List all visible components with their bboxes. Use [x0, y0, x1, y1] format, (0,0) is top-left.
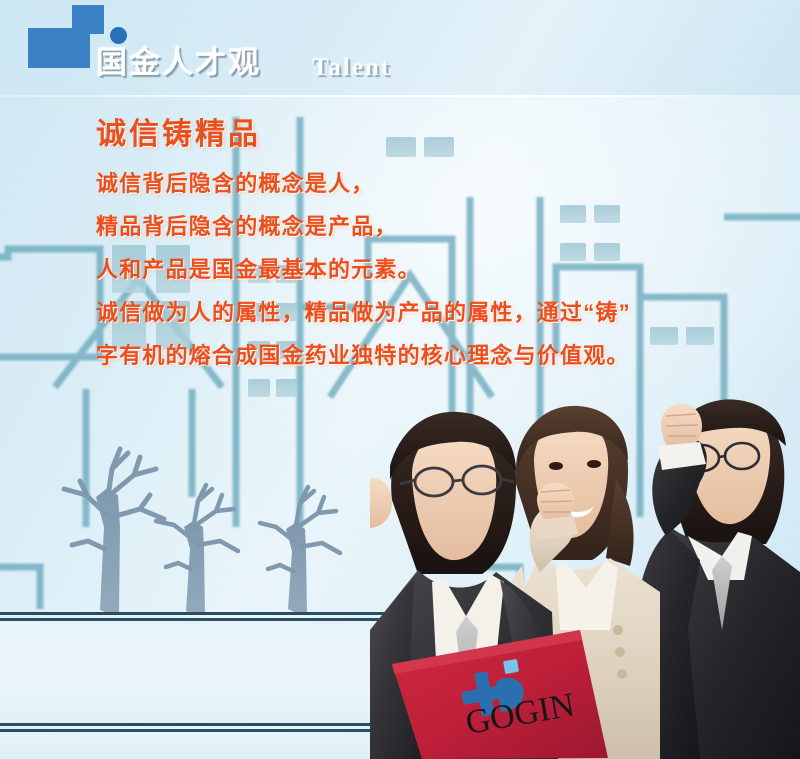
tree-mid — [156, 485, 238, 615]
page-title: 国金人才观 — [96, 47, 261, 78]
poster-canvas: GOGIN 国金人才观 Talent 诚信铸精品 诚信背后隐含的概念是人， 精品… — [0, 0, 800, 759]
content-heading: 诚信铸精品 — [96, 116, 756, 154]
content-line-1: 诚信背后隐含的概念是人， — [96, 173, 756, 195]
person-right — [636, 399, 800, 759]
content-line-3: 人和产品是国金最基本的元素。 — [96, 259, 756, 281]
content-line-4: 诚信做为人的属性，精品做为产品的属性，通过“铸” — [96, 302, 756, 324]
logo-square-large-icon — [28, 28, 90, 68]
people-photo: GOGIN — [370, 330, 800, 759]
people-svg: GOGIN — [370, 330, 800, 759]
content-line-2: 精品背后隐含的概念是产品， — [96, 216, 756, 238]
content-text-block: 诚信铸精品 诚信背后隐含的概念是人， 精品背后隐含的概念是产品， 人和产品是国金… — [96, 116, 756, 388]
page-subtitle: Talent — [312, 55, 391, 80]
content-line-5: 字有机的熔合成国金药业独特的核心理念与价值观。 — [96, 345, 756, 367]
header-bar: 国金人才观 Talent — [0, 0, 800, 97]
header-divider — [0, 95, 800, 97]
tree-left — [64, 449, 164, 613]
logo-dot-icon — [110, 27, 127, 44]
tree-right — [260, 487, 340, 613]
logo-square-small-icon — [72, 5, 104, 34]
